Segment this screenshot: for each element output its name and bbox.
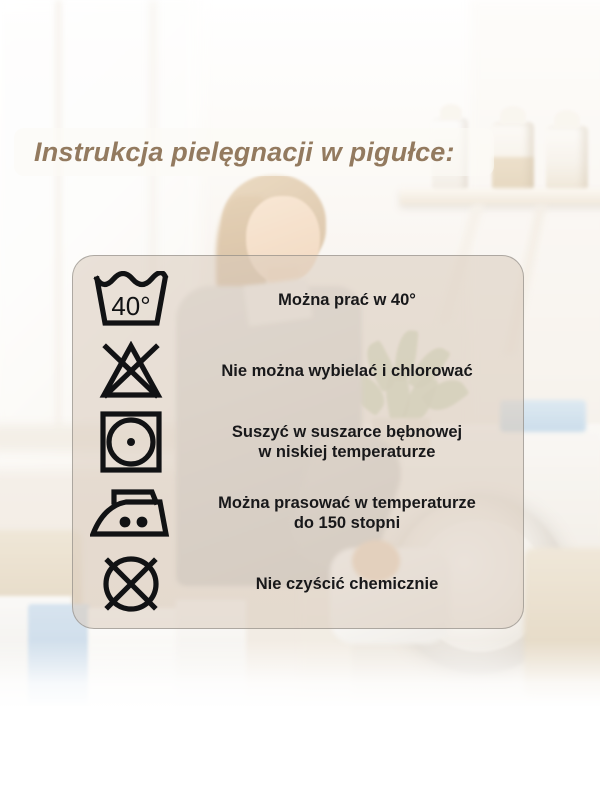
care-text-wash: Można prać w 40° bbox=[189, 290, 523, 310]
care-instructions-graphic: Instrukcja pielęgnacji w pigułce: 40° Mo… bbox=[0, 0, 600, 810]
care-symbols-panel: 40° Można prać w 40° Nie można wybielać … bbox=[72, 255, 524, 629]
care-text-dryclean-line1: Nie czyścić chemicznie bbox=[189, 574, 505, 594]
care-text-dry-line2: w niskiej temperaturze bbox=[189, 442, 505, 462]
iron-two-dots-icon bbox=[73, 486, 189, 540]
care-text-dry: Suszyć w suszarce bębnowej w niskiej tem… bbox=[189, 422, 523, 462]
photo-bottom-fade bbox=[0, 640, 600, 706]
care-text-dryclean: Nie czyścić chemicznie bbox=[189, 574, 523, 594]
title-banner: Instrukcja pielęgnacji w pigułce: bbox=[14, 128, 494, 176]
wash-temp-label: 40° bbox=[111, 291, 150, 321]
page-title: Instrukcja pielęgnacji w pigułce: bbox=[34, 137, 455, 168]
no-bleach-triangle-icon bbox=[73, 341, 189, 401]
care-text-iron-line1: Można prasować w temperaturze bbox=[189, 493, 505, 513]
care-row-bleach: Nie można wybielać i chlorować bbox=[73, 339, 523, 403]
tumble-dry-low-icon bbox=[73, 410, 189, 474]
care-row-dry: Suszyć w suszarce bębnowej w niskiej tem… bbox=[73, 410, 523, 474]
no-dry-clean-icon bbox=[73, 553, 189, 615]
care-text-iron-line2: do 150 stopni bbox=[189, 513, 505, 533]
care-text-bleach-line1: Nie można wybielać i chlorować bbox=[189, 361, 505, 381]
care-row-wash: 40° Można prać w 40° bbox=[73, 268, 523, 332]
care-row-iron: Można prasować w temperaturze do 150 sto… bbox=[73, 481, 523, 545]
care-text-dry-line1: Suszyć w suszarce bębnowej bbox=[189, 422, 505, 442]
wash-tub-40-icon: 40° bbox=[73, 271, 189, 329]
care-text-bleach: Nie można wybielać i chlorować bbox=[189, 361, 523, 381]
care-text-iron: Można prasować w temperaturze do 150 sto… bbox=[189, 493, 523, 533]
care-row-dryclean: Nie czyścić chemicznie bbox=[73, 552, 523, 616]
care-text-wash-line1: Można prać w 40° bbox=[189, 290, 505, 310]
